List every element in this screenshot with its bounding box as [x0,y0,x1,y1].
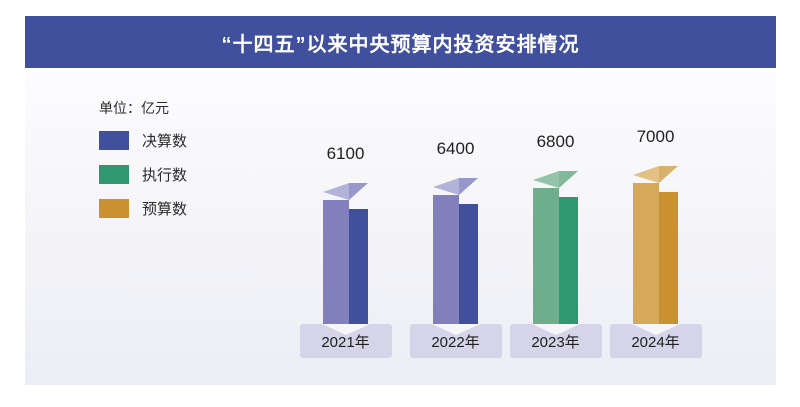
page-title: “十四五”以来中央预算内投资安排情况 [222,28,580,57]
bar-value-label: 6800 [537,132,575,152]
bar-value-label: 6400 [437,139,475,159]
bar-top-face [323,183,368,200]
chart-panel: 单位：亿元 决算数 执行数 预算数 6100 [25,72,776,385]
bar-chart-plot-area: 6100 2021年 6400 [25,72,776,385]
bar-top-face [633,166,678,183]
x-axis-label-plate-2022: 2022年 [410,324,502,358]
x-axis-label: 2024年 [631,331,679,352]
bar-top-face [433,178,478,195]
bar-top-face [533,171,578,188]
x-axis-label-plate-2023: 2023年 [510,324,602,358]
bar-value-label: 7000 [637,127,675,147]
x-axis-label: 2022年 [431,331,479,352]
chart-title-banner: “十四五”以来中央预算内投资安排情况 [25,16,776,68]
x-axis-label: 2023年 [531,331,579,352]
x-axis-label-plate-2021: 2021年 [300,324,392,358]
bar-value-label: 6100 [327,144,365,164]
x-axis-label-plate-2024: 2024年 [610,324,702,358]
x-axis-label: 2021年 [321,331,369,352]
